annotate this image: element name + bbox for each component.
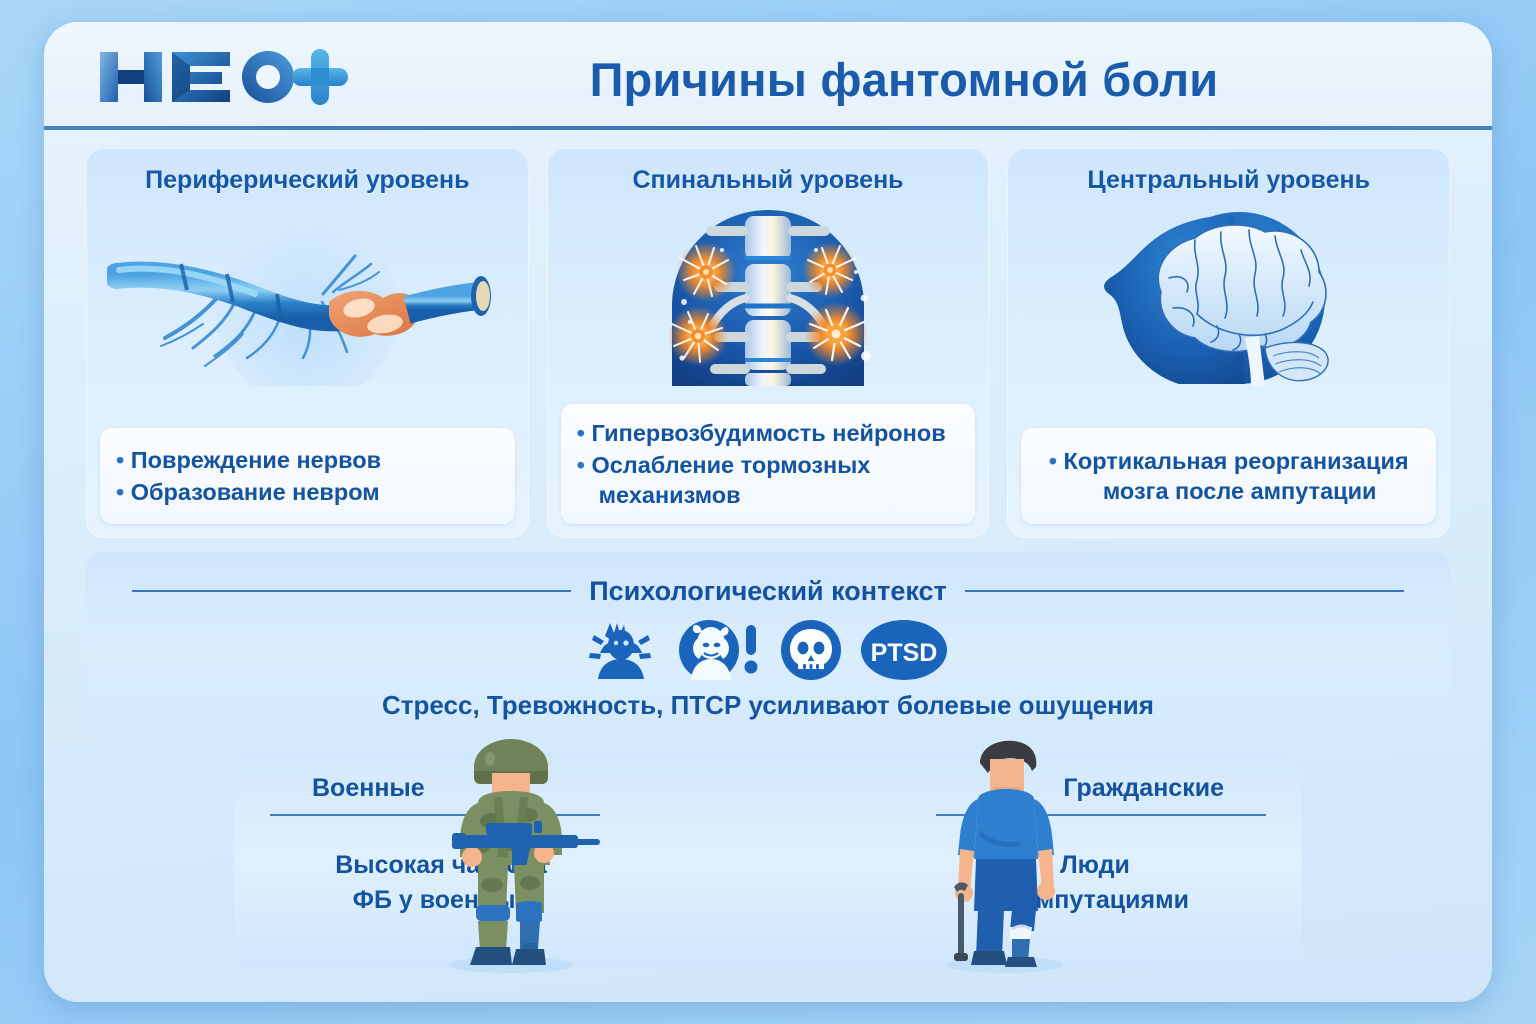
central-bullets-box: Кортикальная реорганизация мозга после а…: [1021, 428, 1436, 524]
psychological-icons-row: PTSD: [86, 618, 1450, 682]
psychological-heading-row: Психологический контекст: [86, 574, 1450, 608]
neo-plus-logo-icon: [96, 46, 351, 108]
brain-head-illustration: [1007, 206, 1450, 391]
ptsd-badge-icon: PTSD: [860, 619, 948, 681]
level-card-peripheral[interactable]: Периферический уровень: [86, 148, 529, 538]
spinal-bullets-box: Гипервозбудимость нейронов Ослабление то…: [561, 404, 976, 524]
level-card-title: Центральный уровень: [1007, 166, 1450, 195]
bullet-item: Повреждение нервов: [116, 445, 499, 475]
heading-rule-left: [132, 590, 571, 592]
bullet-item: Ослабление тормозных механизмов: [577, 450, 960, 510]
level-card-title: Периферический уровень: [86, 166, 529, 195]
spine-neurons-illustration: [547, 206, 990, 391]
psychological-context-section: Психологический контекст: [86, 552, 1450, 740]
level-card-title: Спинальный уровень: [547, 166, 990, 195]
psychological-heading: Психологический контекст: [589, 576, 946, 607]
brand-logo: [96, 46, 351, 108]
bullet-item: Образование невром: [116, 477, 499, 507]
psychological-caption: Стресс, Тревожность, ПТСР усиливают боле…: [86, 690, 1450, 721]
group-title: Военные: [312, 774, 425, 803]
levels-row: Периферический уровень: [86, 148, 1450, 538]
stress-person-icon: [588, 619, 660, 681]
peripheral-bullets-box: Повреждение нервов Образование невром: [100, 428, 515, 524]
bullet-item: Кортикальная реорганизация мозга после а…: [1037, 446, 1420, 506]
level-card-central[interactable]: Центральный уровень: [1007, 148, 1450, 538]
bullet-list: Повреждение нервов Образование невром: [116, 443, 499, 509]
nerve-neuroma-illustration: [86, 206, 529, 391]
header-divider: [44, 126, 1492, 130]
bullet-list: Кортикальная реорганизация мозга после а…: [1037, 444, 1420, 508]
infographic-poster: Причины фантомной боли Периферический ур…: [44, 22, 1492, 1002]
bullet-item: Гипервозбудимость нейронов: [577, 418, 960, 448]
page-title: Причины фантомной боли: [374, 40, 1434, 118]
level-card-spinal[interactable]: Спинальный уровень: [547, 148, 990, 538]
bullet-list: Гипервозбудимость нейронов Ослабление то…: [577, 416, 960, 512]
population-groups-row: Военные Высокая частота ФБ у военных Гра…: [86, 752, 1450, 970]
soldier-with-prosthetic-leg-figure: [416, 737, 606, 978]
civilian-with-cane-and-prosthetic-leg-figure: [920, 737, 1090, 978]
heading-rule-right: [965, 590, 1404, 592]
ptsd-label: PTSD: [871, 639, 938, 667]
anxiety-person-exclamation-icon: [678, 619, 762, 681]
skull-icon: [780, 619, 842, 681]
